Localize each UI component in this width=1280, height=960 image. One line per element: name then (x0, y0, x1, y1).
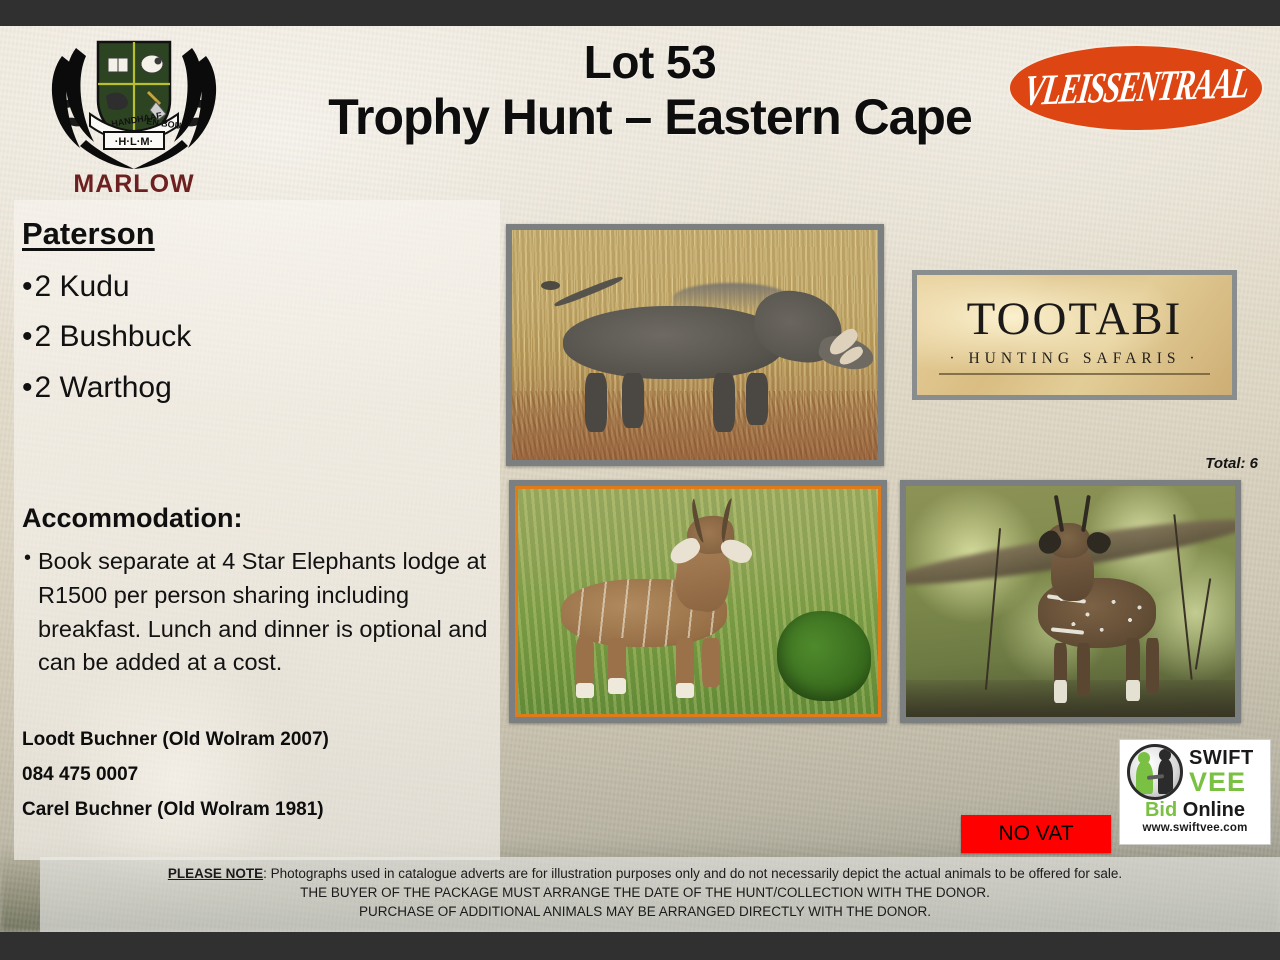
footer-note-label: PLEASE NOTE (168, 866, 263, 881)
accommodation-heading: Accommodation: (22, 503, 243, 534)
crest-icon: HANDHAAF EN BOU ·H·L·M· (28, 28, 240, 178)
kudu-photo (509, 480, 887, 723)
swiftvee-logo[interactable]: SWIFT VEE Bid Online www.swiftvee.com (1119, 739, 1271, 845)
crest-initials: ·H·L·M· (115, 136, 153, 148)
animal-list: 2 Kudu 2 Bushbuck 2 Warthog (22, 262, 191, 413)
auction-lot-slide: HANDHAAF EN BOU ·H·L·M· MARLOW Lot 53 Tr… (0, 0, 1280, 960)
tootabi-tagline: · HUNTING SAFARIS · (949, 350, 1199, 368)
swiftvee-vee-text: VEE (1189, 769, 1254, 796)
list-item-animal: 2 Bushbuck (22, 312, 191, 362)
location-heading: Paterson (22, 216, 155, 252)
footer-note-line1: : Photographs used in catalogue adverts … (263, 866, 1122, 881)
vleissentraal-logo: VLEISSENTRAAL (1008, 44, 1264, 132)
marlow-crest-logo: HANDHAAF EN BOU ·H·L·M· MARLOW (28, 28, 240, 200)
crest-school-name: MARLOW (28, 170, 240, 199)
list-item-animal: 2 Kudu (22, 262, 191, 312)
contact-name-primary: Loodt Buchner (Old Wolram 2007) (22, 723, 492, 758)
swiftvee-online-text: Online (1183, 799, 1245, 821)
tootabi-wordmark: TOOTABI (967, 296, 1183, 343)
contact-phone: 084 475 0007 (22, 758, 492, 793)
warthog-photo (506, 224, 884, 466)
swiftvee-url[interactable]: www.swiftvee.com (1127, 822, 1263, 834)
footer-note-line2: THE BUYER OF THE PACKAGE MUST ARRANGE TH… (40, 883, 1250, 902)
tootabi-rule (939, 373, 1210, 375)
vleissentraal-wordmark: VLEISSENTRAAL (1021, 59, 1251, 116)
accommodation-text: • Book separate at 4 Star Elephants lodg… (22, 545, 490, 680)
bullet-dot: • (24, 544, 31, 573)
status-badge-no-vat: NO VAT (961, 815, 1111, 853)
swiftvee-bid-online: Bid Online (1127, 800, 1263, 820)
accommodation-body: Book separate at 4 Star Elephants lodge … (38, 545, 490, 680)
bottom-bar (0, 932, 1280, 960)
swiftvee-bid-text: Bid (1145, 799, 1177, 821)
handshake-icon (1127, 744, 1183, 800)
footer-note-line3: PURCHASE OF ADDITIONAL ANIMALS MAY BE AR… (40, 902, 1250, 921)
animal-total-label: Total: 6 (1205, 455, 1258, 472)
footer-note: PLEASE NOTE: Photographs used in catalog… (40, 864, 1250, 921)
list-item-animal: 2 Warthog (22, 363, 191, 413)
swiftvee-swift-text: SWIFT (1189, 748, 1254, 768)
contact-block: Loodt Buchner (Old Wolram 2007) 084 475 … (22, 723, 492, 827)
tootabi-logo: TOOTABI · HUNTING SAFARIS · (912, 270, 1237, 400)
contact-name-secondary: Carel Buchner (Old Wolram 1981) (22, 793, 492, 828)
top-bar (0, 0, 1280, 26)
bushbuck-photo (900, 480, 1241, 723)
